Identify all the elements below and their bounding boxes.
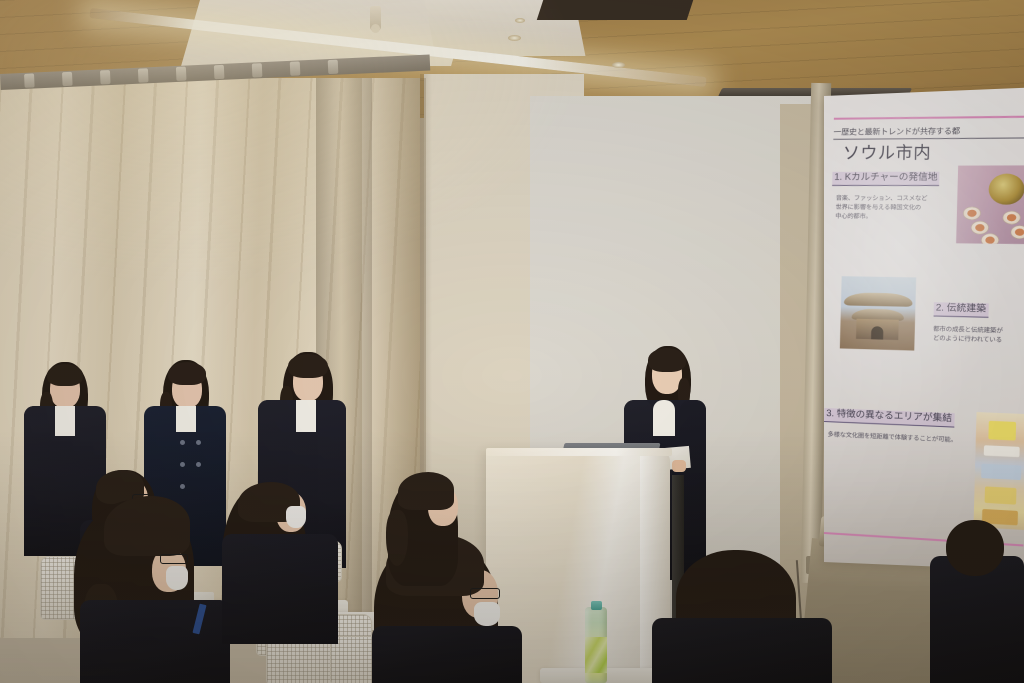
- slide-top-rule: [834, 116, 1024, 120]
- eyeglasses-icon: [160, 554, 188, 564]
- eyeglasses-icon: [470, 588, 500, 599]
- slide-section-1-body: 音楽、ファッション、コスメなど 世界に影響を与える韓国文化の 中心的都市。: [835, 194, 927, 222]
- slide-image-korean-food: [956, 165, 1024, 244]
- face-mask: [474, 602, 500, 626]
- slide-section-2-heading: 2. 伝統建築: [934, 302, 989, 318]
- tea-bottle-label: [585, 637, 607, 673]
- face-mask: [166, 566, 188, 590]
- presentation-room-photo: 一歴史と最新トレンドが共存する都 ソウル市内 1. Kカルチャーの発信地 音楽、…: [0, 0, 1024, 683]
- slide-image-traditional-gate: [840, 276, 916, 350]
- tea-bottle-cap: [591, 601, 602, 610]
- projected-slide: 一歴史と最新トレンドが共存する都 ソウル市内 1. Kカルチャーの発信地 音楽、…: [824, 116, 1024, 551]
- slide-section-3-body: 多様な文化圏を短距離で体験することが可能。: [828, 430, 958, 445]
- downlight-icon: [508, 35, 521, 41]
- face-mask: [286, 506, 306, 528]
- projection-screen: 一歴史と最新トレンドが共存する都 ソウル市内 1. Kカルチャーの発信地 音楽、…: [824, 88, 1024, 571]
- podium-top-surface: [486, 448, 672, 456]
- slide-section-2-body: 都市の成長と伝統建築が どのように行われている: [933, 325, 1003, 345]
- food-pot-shape: [988, 174, 1024, 205]
- slide-section-3-heading: 3. 特徴の異なるエリアが集結: [824, 408, 954, 428]
- downlight-icon: [612, 62, 625, 68]
- ceiling-dark-panel: [537, 0, 693, 20]
- downlight-icon: [515, 18, 525, 23]
- gate-archway: [871, 326, 883, 339]
- slide-header-text: 一歴史と最新トレンドが共存する都: [833, 125, 1024, 140]
- slide-image-seoul-street: [973, 412, 1024, 530]
- gate-upper-roof: [844, 292, 913, 307]
- slide-title: ソウル市内: [843, 143, 932, 164]
- sprinkler-head-icon: [370, 6, 381, 32]
- slide-section-1-heading: 1. Kカルチャーの発信地: [832, 172, 940, 186]
